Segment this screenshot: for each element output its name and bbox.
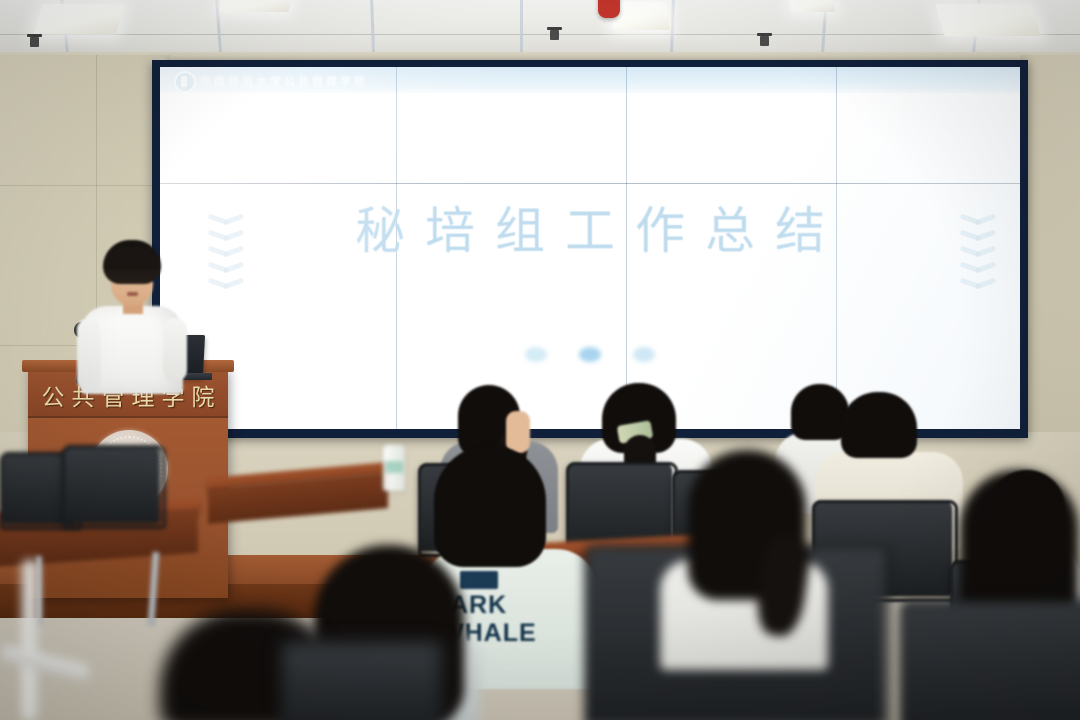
student-foreground-right bbox=[660, 450, 830, 650]
student-hair bbox=[841, 392, 917, 458]
ceiling-light bbox=[935, 4, 1040, 36]
wall-right bbox=[1020, 55, 1080, 485]
presentation-screen[interactable]: 华南师范大学公共管理学院 SCHOOL OF PUBLIC ADMINISTRA… bbox=[160, 67, 1020, 429]
slide-dot-decoration bbox=[160, 347, 1020, 367]
slide-dot bbox=[525, 347, 547, 362]
chair bbox=[900, 600, 1080, 720]
ceiling-speaker-icon bbox=[550, 30, 559, 40]
slide-dot bbox=[633, 347, 655, 362]
white-stand bbox=[22, 560, 38, 720]
ceiling-speaker-icon bbox=[30, 37, 39, 47]
watermark-institution-subtitle: SCHOOL OF PUBLIC ADMINISTRATION bbox=[200, 84, 323, 90]
ceiling-light bbox=[34, 4, 125, 34]
lecture-hall-photo: 华南师范大学公共管理学院 SCHOOL OF PUBLIC ADMINISTRA… bbox=[0, 0, 1080, 720]
chair bbox=[280, 640, 440, 720]
ceiling-light bbox=[789, 0, 835, 12]
presenter-arm-right bbox=[163, 318, 187, 382]
slide-title: 秘培组工作总结 bbox=[160, 191, 1020, 263]
red-ceiling-fixture bbox=[598, 0, 620, 18]
video-wall-bezel: 华南师范大学公共管理学院 SCHOOL OF PUBLIC ADMINISTRA… bbox=[152, 60, 1028, 438]
water-bottle bbox=[383, 445, 405, 491]
panel-seam-horizontal bbox=[160, 183, 1020, 184]
chair bbox=[62, 445, 160, 523]
presenter bbox=[75, 240, 190, 385]
ceiling-light bbox=[219, 0, 292, 12]
presenter-hair-front bbox=[105, 248, 159, 270]
presenter-arm-left bbox=[77, 318, 101, 392]
university-logo-icon bbox=[174, 71, 196, 93]
slide-dot bbox=[579, 347, 601, 362]
ceiling-speaker-icon bbox=[760, 36, 769, 46]
